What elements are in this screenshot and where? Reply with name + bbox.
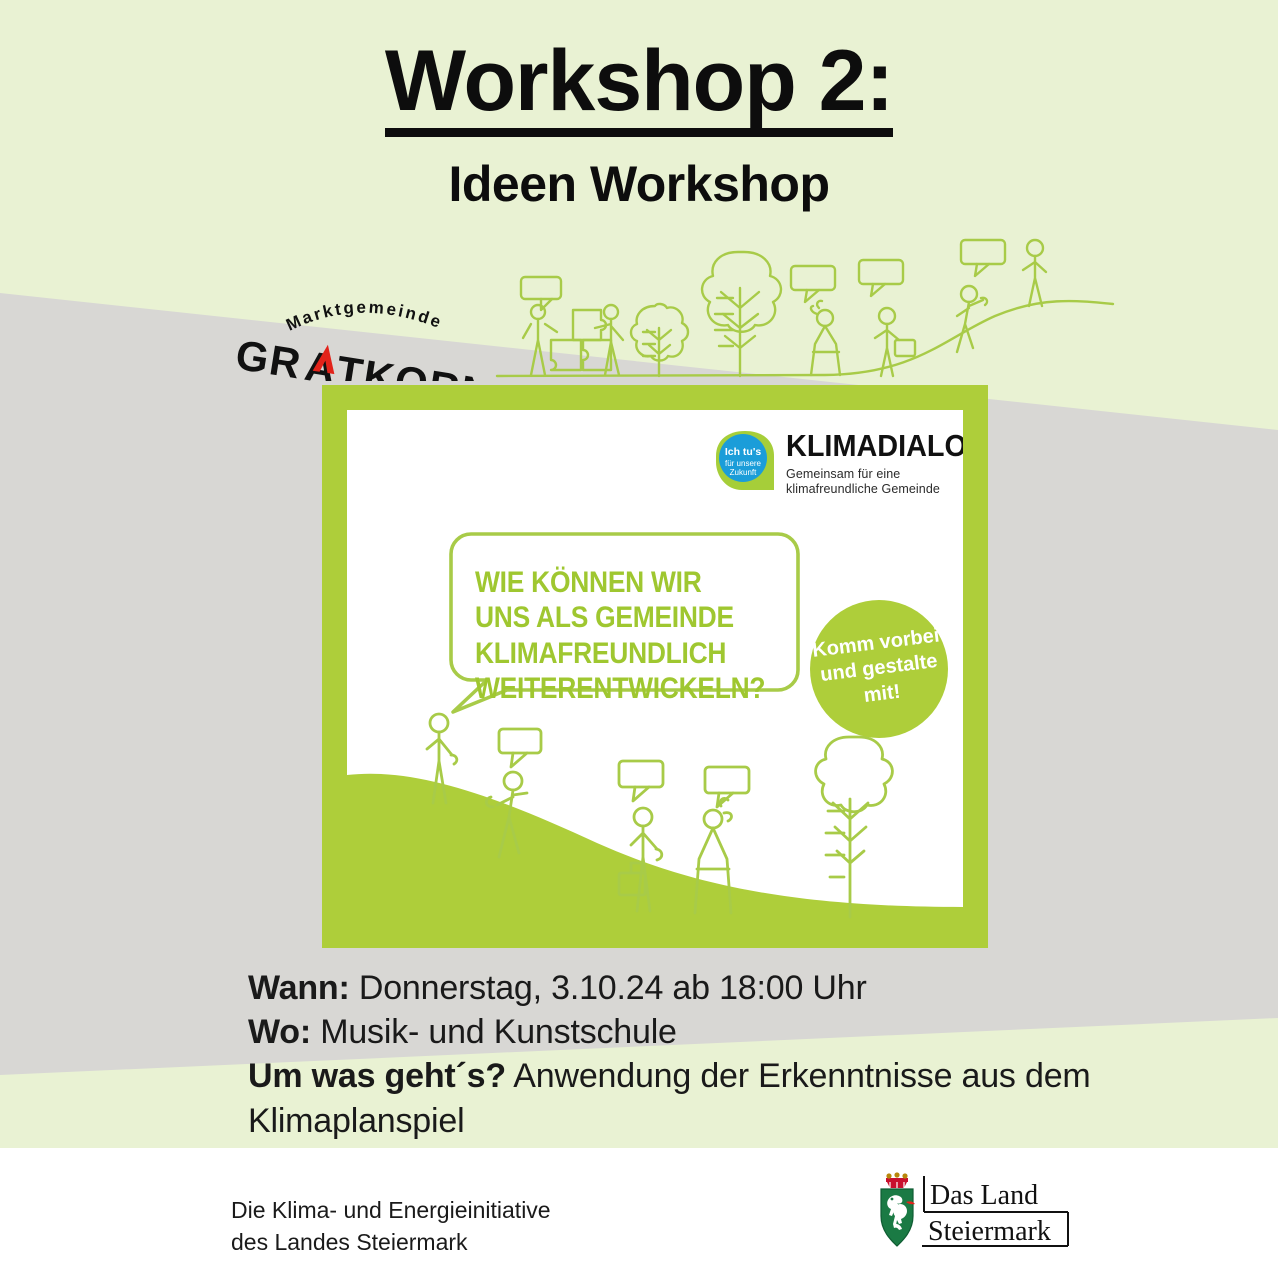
question-text: WIE KÖNNEN WIR UNS ALS GEMEINDE KLIMAFRE… — [475, 565, 765, 707]
footer-white-area — [0, 1148, 1278, 1278]
klimadialog-title: KLIMADIALOG — [786, 430, 963, 461]
detail-row-thema: Um was geht´s? Anwendung der Erkenntniss… — [248, 1054, 1128, 1142]
detail-label-wann: Wann: — [248, 969, 350, 1007]
detail-label-thema: Um was geht´s? — [248, 1057, 506, 1095]
footer-initiative-text: Die Klima- und Energieinitiative des Lan… — [231, 1195, 551, 1258]
klimadialog-logo: Ich tu's für unsere Zukunft KLIMADIALOG … — [712, 428, 952, 506]
crown-icon — [886, 1172, 908, 1188]
call-to-action-badge: Komm vorbei und gestalte mit! — [810, 600, 948, 738]
header-illustration — [495, 228, 1115, 380]
gratkorn-logo: Marktgemeinde GR A TKORN — [228, 281, 478, 381]
title-subtitle-text: Ideen Workshop — [0, 159, 1278, 209]
detail-value-wo: Musik- und Kunstschule — [320, 1013, 677, 1051]
page-title: Workshop 2: Ideen Workshop — [0, 38, 1278, 209]
event-details: Wann: Donnerstag, 3.10.24 ab 18:00 Uhr W… — [248, 966, 1128, 1143]
question-line-1: WIE KÖNNEN WIR — [475, 565, 765, 600]
detail-row-wo: Wo: Musik- und Kunstschule — [248, 1010, 1128, 1054]
title-main-text: Workshop 2: — [385, 38, 893, 137]
question-line-2: UNS ALS GEMEINDE — [475, 600, 765, 635]
land-logo-line-1: Das Land — [930, 1180, 1038, 1211]
klimadialog-subtitle-line2: klimafreundliche Gemeinde — [786, 482, 963, 497]
das-land-steiermark-logo: Das Land Steiermark — [872, 1172, 1072, 1254]
question-line-3: KLIMAFREUNDLICH — [475, 636, 765, 671]
call-to-action-text: Komm vorbei und gestalte mit! — [802, 592, 956, 746]
klimadialog-card: Ich tu's für unsere Zukunft KLIMADIALOG … — [322, 385, 988, 948]
ich-tus-line-3: Zukunft — [730, 468, 757, 477]
detail-label-wo: Wo: — [248, 1013, 311, 1051]
gratkorn-wordmark: GR — [233, 331, 306, 381]
detail-row-wann: Wann: Donnerstag, 3.10.24 ab 18:00 Uhr — [248, 966, 1128, 1010]
detail-value-wann: Donnerstag, 3.10.24 ab 18:00 Uhr — [359, 969, 867, 1007]
ich-tus-line-2: für unsere — [725, 459, 762, 468]
ich-tus-line-1: Ich tu's — [725, 446, 761, 458]
footer-line-2: des Landes Steiermark — [231, 1227, 551, 1259]
gratkorn-arc-text: Marktgemeinde — [283, 298, 445, 335]
klimadialog-subtitle-line1: Gemeinsam für eine — [786, 467, 963, 482]
footer-line-1: Die Klima- und Energieinitiative — [231, 1195, 551, 1227]
ich-tus-logo-icon: Ich tu's für unsere Zukunft — [712, 428, 778, 494]
poster-canvas: Workshop 2: Ideen Workshop Marktgemeinde… — [0, 0, 1278, 1278]
klimadialog-card-inner: Ich tu's für unsere Zukunft KLIMADIALOG … — [347, 410, 963, 923]
land-logo-line-2: Steiermark — [928, 1216, 1051, 1247]
svg-text:TKORN: TKORN — [333, 347, 478, 381]
